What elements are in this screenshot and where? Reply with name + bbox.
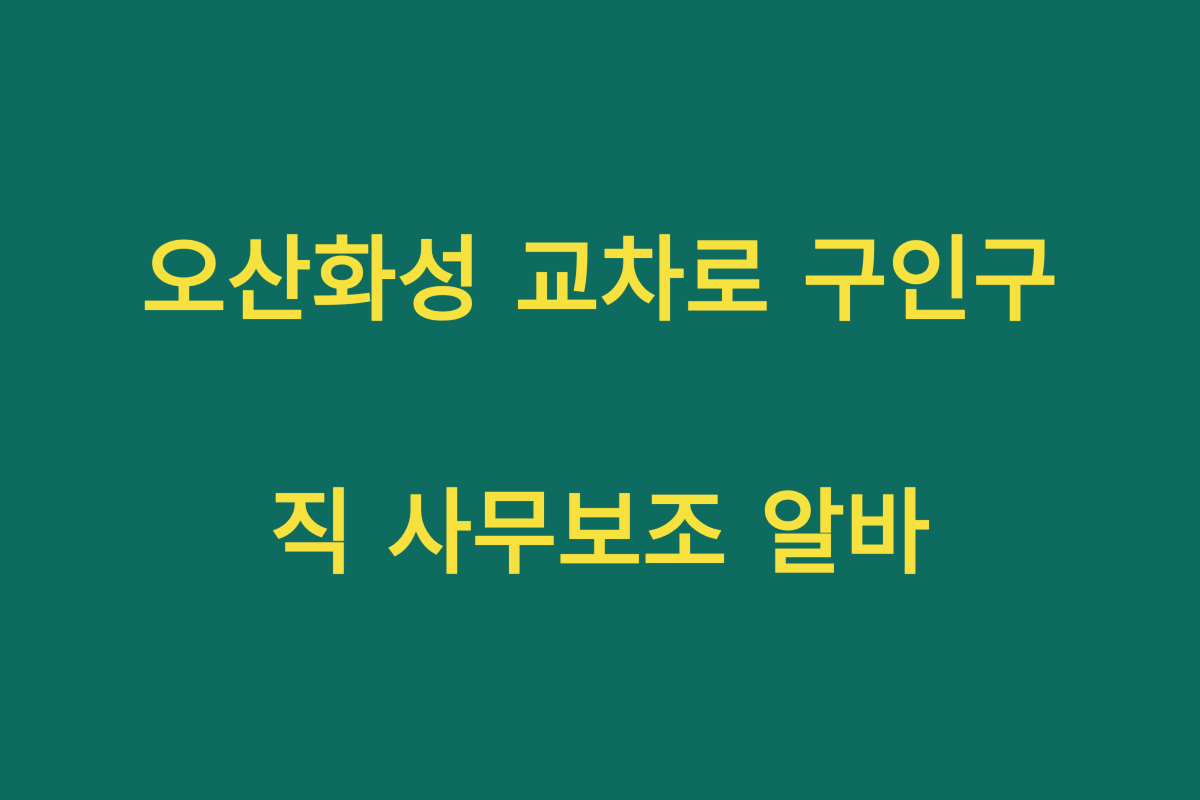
headline-line-1: 오산화성 교차로 구인구 xyxy=(70,218,1130,345)
banner-canvas: 오산화성 교차로 구인구 직 사무보조 알바 xyxy=(0,0,1200,800)
page-title: 오산화성 교차로 구인구 직 사무보조 알바 xyxy=(70,91,1130,726)
headline-line-2: 직 사무보조 알바 xyxy=(70,471,1130,598)
